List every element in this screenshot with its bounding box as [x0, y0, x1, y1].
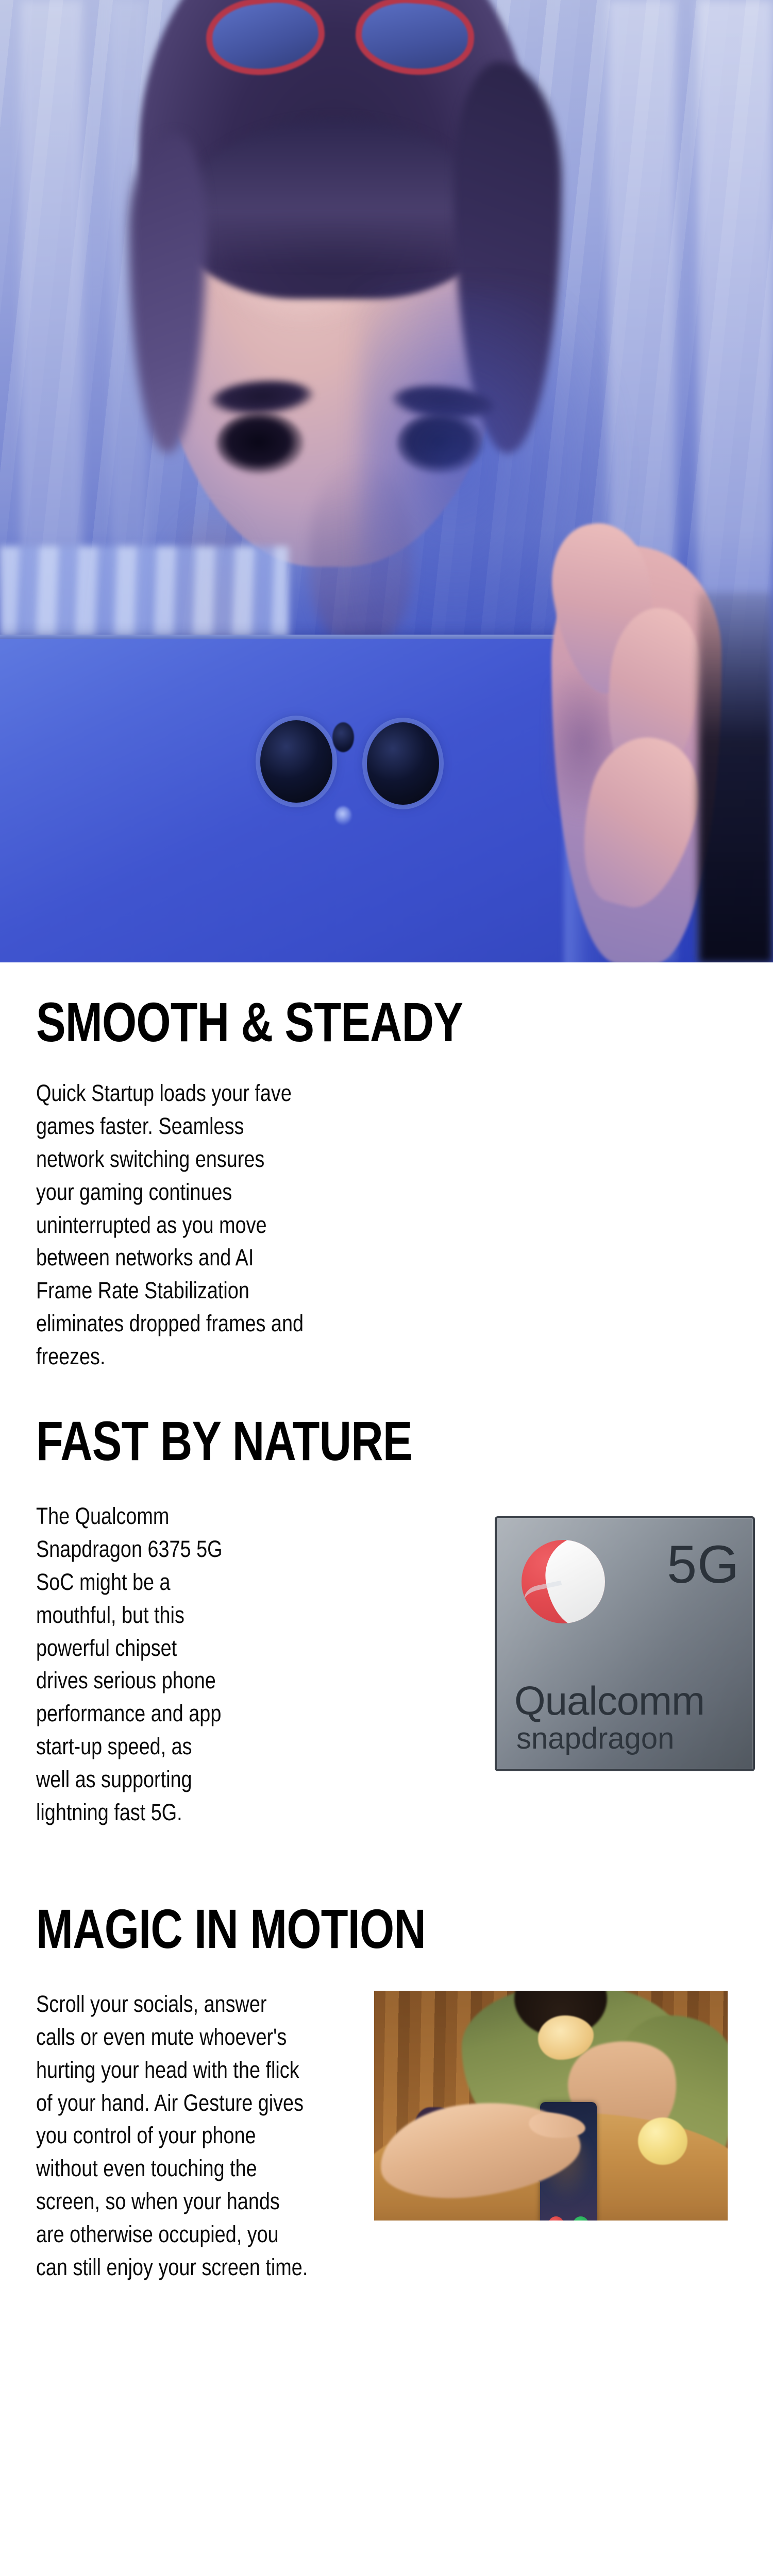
eye-left	[216, 412, 304, 474]
sunglass-lens-right	[353, 0, 477, 79]
background-blinds	[0, 546, 289, 639]
accept-call-button[interactable]	[573, 2216, 589, 2221]
air-gesture-photo	[374, 1991, 728, 2221]
section-fast-by-nature: FAST BY NATURE The Qualcomm Snapdragon 6…	[0, 1373, 773, 1829]
section-smooth-and-steady: SMOOTH & STEADY Quick Startup loads your…	[0, 962, 773, 1373]
magic-flow: Scroll your socials, answer calls or eve…	[36, 1988, 737, 2284]
dark-vignette-right	[698, 592, 773, 962]
section-body-fast: The Qualcomm Snapdragon 6375 5G SoC migh…	[36, 1500, 231, 1829]
sunglasses-icon	[206, 0, 474, 95]
hero-image	[0, 0, 773, 962]
content-area: SMOOTH & STEADY Quick Startup loads your…	[0, 962, 773, 2284]
fast-row: The Qualcomm Snapdragon 6375 5G SoC migh…	[36, 1500, 773, 1829]
section-body-magic: Scroll your socials, answer calls or eve…	[36, 1988, 400, 2284]
sunglass-lens-left	[203, 0, 328, 81]
camera-sensor-dot	[335, 806, 351, 825]
snapdragon-chip-image: 5G Qualcomm snapdragon	[495, 1516, 755, 1771]
section-heading-magic: MAGIC IN MOTION	[36, 1901, 626, 1957]
camera-lens-secondary	[367, 722, 439, 805]
section-body-smooth: Quick Startup loads your fave games fast…	[36, 1077, 305, 1373]
section-heading-fast: FAST BY NATURE	[36, 1413, 626, 1469]
chip-5g-badge: 5G	[667, 1538, 740, 1591]
chip-brand-label: Qualcomm	[514, 1681, 704, 1721]
section-heading-smooth: SMOOTH & STEADY	[36, 994, 626, 1050]
product-feature-page: SMOOTH & STEADY Quick Startup loads your…	[0, 0, 773, 2576]
lemon-fruit	[638, 2117, 687, 2165]
chip-product-label: snapdragon	[516, 1724, 674, 1754]
snapdragon-logo-icon	[522, 1540, 605, 1623]
decline-call-button[interactable]	[548, 2216, 564, 2221]
section-magic-in-motion: MAGIC IN MOTION	[0, 1829, 773, 2284]
camera-lens-primary	[260, 720, 332, 803]
camera-flash-icon	[332, 722, 354, 752]
